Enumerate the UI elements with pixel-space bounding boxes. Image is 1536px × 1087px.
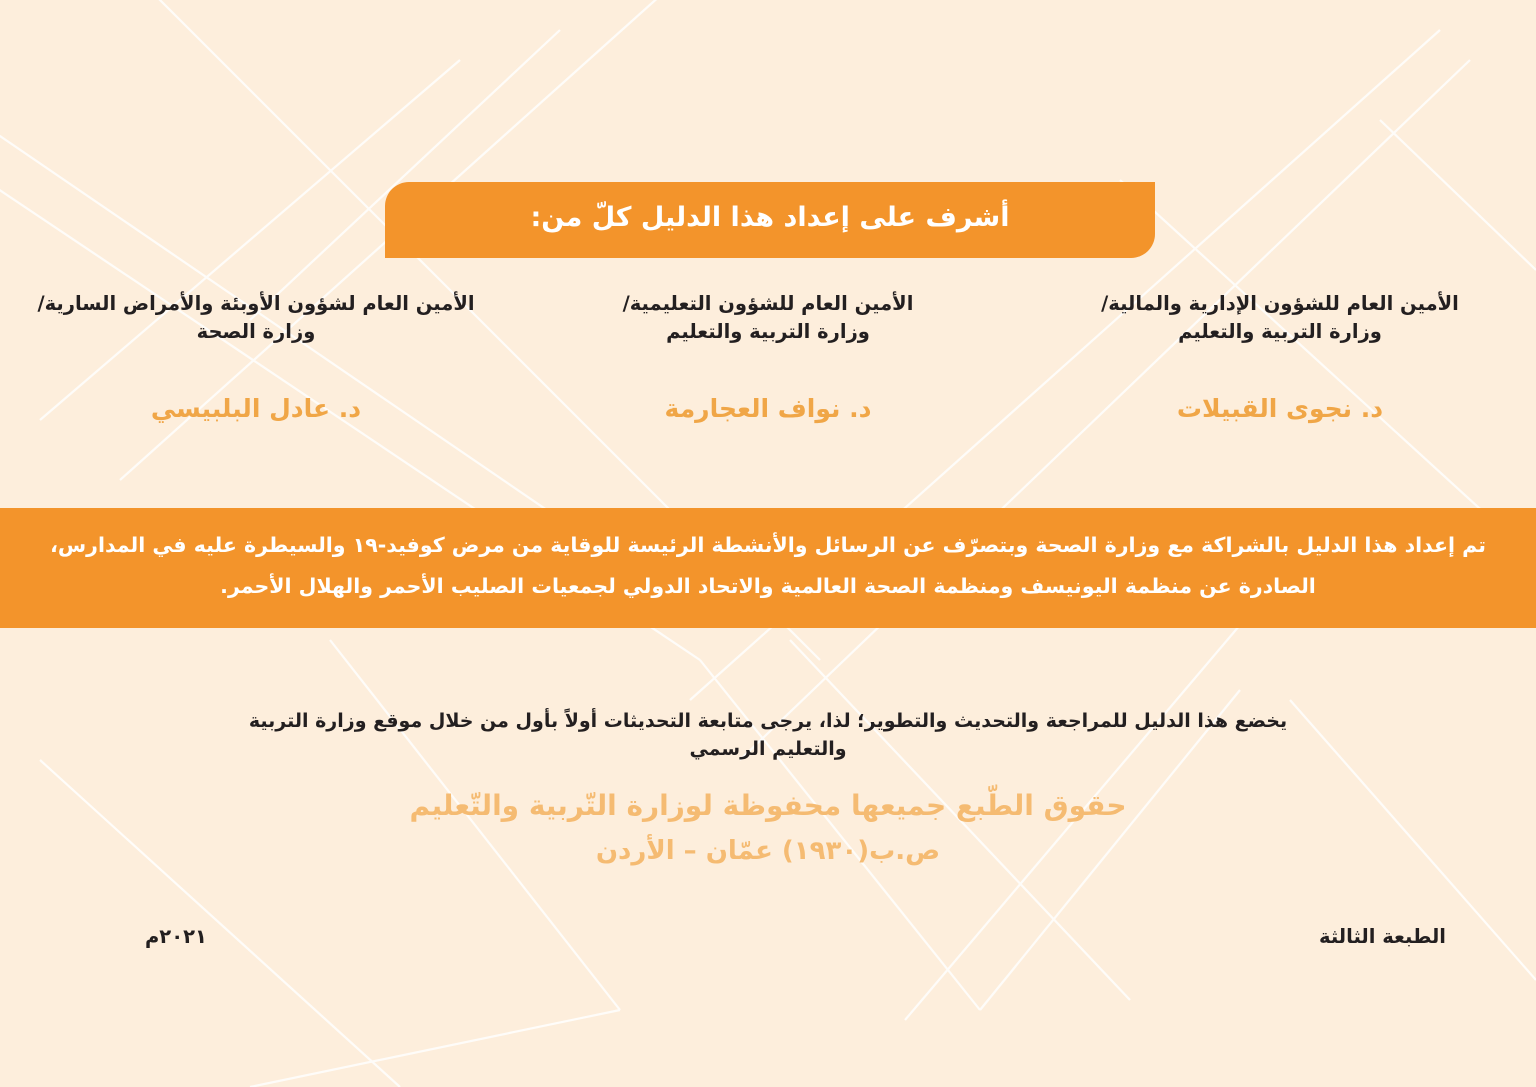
partnership-band: تم إعداد هذا الدليل بالشراكة مع وزارة ال… xyxy=(0,508,1536,628)
edition-label: الطبعة الثالثة xyxy=(1319,925,1446,948)
supervisor-name-3: د. عادل البلبيسي xyxy=(30,394,482,423)
revision-note: يخضع هذا الدليل للمراجعة والتحديث والتطو… xyxy=(238,708,1298,763)
supervisor-column-3: الأمين العام لشؤون الأوبئة والأمراض السا… xyxy=(0,290,512,423)
document-page: أشرف على إعداد هذا الدليل كلّ من: الأمين… xyxy=(0,0,1536,1087)
copyright-line-1: حقوق الطّبع جميعها محفوظة لوزارة التّربي… xyxy=(218,786,1318,827)
copyright-block: حقوق الطّبع جميعها محفوظة لوزارة التّربي… xyxy=(218,786,1318,872)
page-footer: الطبعة الثالثة ٢٠٢١م xyxy=(0,925,1536,965)
supervisor-column-1: الأمين العام للشؤون الإدارية والمالية/ و… xyxy=(1024,290,1536,423)
copyright-line-2: ص.ب(١٩٣٠) عمّان – الأردن xyxy=(218,831,1318,873)
supervisor-name-1: د. نجوى القبيلات xyxy=(1054,394,1506,423)
supervisor-role-2: الأمين العام للشؤون التعليمية/ وزارة الت… xyxy=(542,290,994,347)
year-label: ٢٠٢١م xyxy=(145,925,207,948)
page-title: أشرف على إعداد هذا الدليل كلّ من: xyxy=(531,202,1010,237)
header-banner: أشرف على إعداد هذا الدليل كلّ من: xyxy=(385,182,1155,258)
supervisor-role-3: الأمين العام لشؤون الأوبئة والأمراض السا… xyxy=(30,290,482,347)
supervisor-column-2: الأمين العام للشؤون التعليمية/ وزارة الت… xyxy=(512,290,1024,423)
supervisor-role-1: الأمين العام للشؤون الإدارية والمالية/ و… xyxy=(1054,290,1506,347)
supervisor-name-2: د. نواف العجارمة xyxy=(542,394,994,423)
partnership-text: تم إعداد هذا الدليل بالشراكة مع وزارة ال… xyxy=(48,525,1488,611)
supervisors-row: الأمين العام للشؤون الإدارية والمالية/ و… xyxy=(0,290,1536,423)
